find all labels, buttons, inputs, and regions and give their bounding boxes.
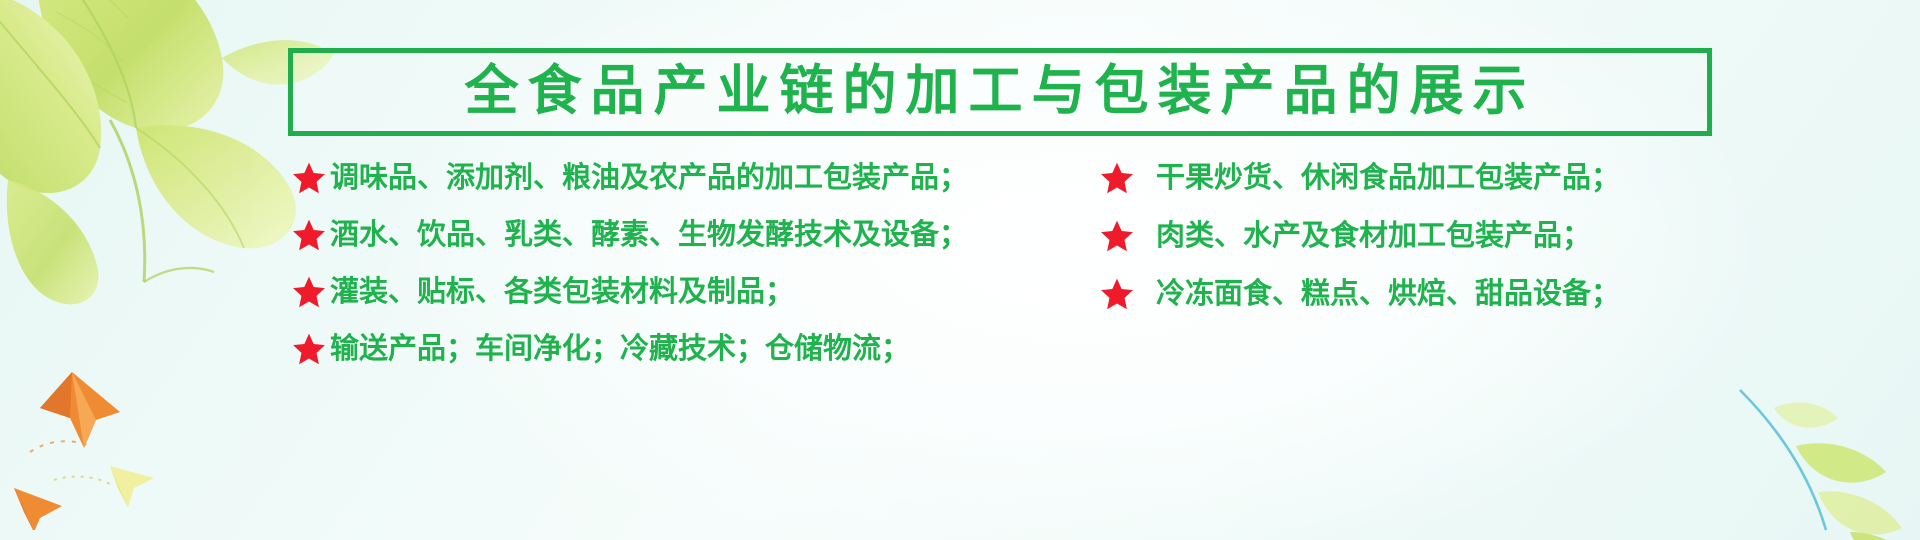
list-item-label: 肉类、水产及食材加工包装产品； <box>1156 222 1591 251</box>
star-icon <box>1100 277 1134 311</box>
list-item-label: 酒水、饮品、乳类、酵素、生物发酵技术及设备； <box>330 221 968 250</box>
list-item[interactable]: 调味品、添加剂、粮油及农产品的加工包装产品； <box>292 150 992 206</box>
list-item[interactable]: 输送产品；车间净化；冷藏技术；仓储物流； <box>292 321 992 377</box>
feature-list: 调味品、添加剂、粮油及农产品的加工包装产品； 酒水、饮品、乳类、酵素、生物发酵技… <box>0 150 1920 430</box>
star-icon <box>292 332 326 366</box>
list-item[interactable]: 冷冻面食、糕点、烘焙、甜品设备； <box>1100 266 1790 322</box>
list-item[interactable]: 灌装、贴标、各类包装材料及制品； <box>292 264 992 320</box>
title-frame: 全食品产业链的加工与包装产品的展示 <box>288 48 1712 136</box>
star-icon <box>292 275 326 309</box>
list-item-label: 调味品、添加剂、粮油及农产品的加工包装产品； <box>330 164 968 193</box>
list-item[interactable]: 酒水、饮品、乳类、酵素、生物发酵技术及设备； <box>292 207 992 263</box>
star-icon <box>1100 161 1134 195</box>
list-item-label: 干果炒货、休闲食品加工包装产品； <box>1156 164 1620 193</box>
feature-list-right-column: 干果炒货、休闲食品加工包装产品； 肉类、水产及食材加工包装产品； 冷冻面食、糕点… <box>1100 150 1790 324</box>
list-item-label: 灌装、贴标、各类包装材料及制品； <box>330 278 794 307</box>
list-item[interactable]: 肉类、水产及食材加工包装产品； <box>1100 208 1790 264</box>
star-icon <box>292 161 326 195</box>
feature-list-left-column: 调味品、添加剂、粮油及农产品的加工包装产品； 酒水、饮品、乳类、酵素、生物发酵技… <box>292 150 992 378</box>
list-item[interactable]: 干果炒货、休闲食品加工包装产品； <box>1100 150 1790 206</box>
star-icon <box>292 218 326 252</box>
promo-banner: 全食品产业链的加工与包装产品的展示 调味品、添加剂、粮油及农产品的加工包装产品；… <box>0 0 1920 540</box>
list-item-label: 输送产品；车间净化；冷藏技术；仓储物流； <box>330 335 910 364</box>
star-icon <box>1100 219 1134 253</box>
page-title: 全食品产业链的加工与包装产品的展示 <box>465 64 1536 118</box>
list-item-label: 冷冻面食、糕点、烘焙、甜品设备； <box>1156 280 1620 309</box>
